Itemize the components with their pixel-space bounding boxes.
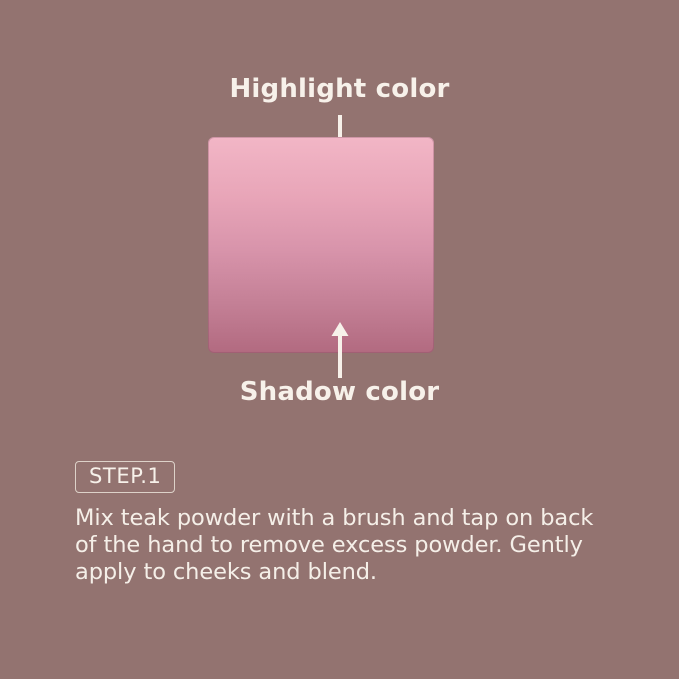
instruction-line: Mix teak powder with a brush and tap on … xyxy=(75,505,620,532)
instruction-line: apply to cheeks and blend. xyxy=(75,559,620,586)
step-badge: STEP.1 xyxy=(75,461,175,493)
highlight-color-label: Highlight color xyxy=(0,76,679,102)
instruction-line: of the hand to remove excess powder. Gen… xyxy=(75,532,620,559)
instruction-card: Highlight color Shadow color STEP.1 Mix … xyxy=(0,0,679,679)
step-instruction-text: Mix teak powder with a brush and tap on … xyxy=(75,505,620,586)
shadow-color-label: Shadow color xyxy=(0,379,679,405)
color-gradient-swatch xyxy=(208,137,434,353)
